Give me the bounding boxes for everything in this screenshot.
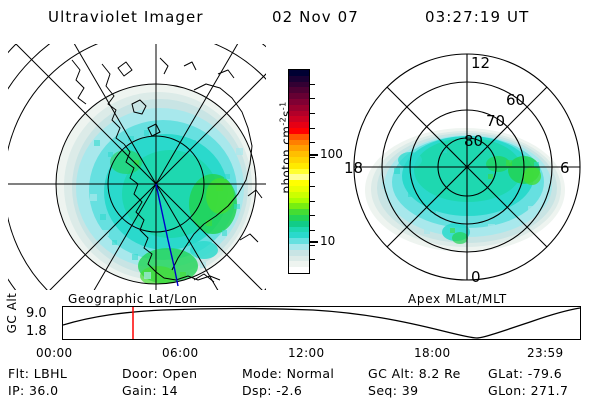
status-seq: Seq: 39 [368, 383, 418, 398]
mlt-label-12: 12 [471, 54, 490, 72]
colorbar-major-tick [310, 241, 318, 243]
time-axis-tick: 00:00 [36, 346, 73, 360]
time-axis-tick: 06:00 [162, 346, 199, 360]
time-axis-tick: 18:00 [414, 346, 451, 360]
orbit-trace-box [62, 306, 581, 340]
colorbar-gradient [288, 69, 310, 274]
status-gcalt: GC Alt: 8.2 Re [368, 366, 461, 381]
uvi-display: Ultraviolet Imager 02 Nov 07 03:27:19 UT [0, 0, 600, 400]
colorbar-ticks [310, 69, 318, 274]
time-axis-tick: 23:59 [527, 346, 564, 360]
colorbar-minor-tick [310, 98, 315, 99]
status-mode: Mode: Normal [242, 366, 334, 381]
mlat-label-70: 70 [486, 112, 505, 130]
colorbar-minor-tick [310, 142, 315, 143]
colorbar-minor-tick [310, 230, 315, 231]
colorbar-minor-tick [310, 215, 315, 216]
colorbar-minor-tick [310, 201, 315, 202]
colorbar-minor-tick [310, 113, 315, 114]
colorbar-minor-tick [310, 259, 315, 260]
colorbar[interactable]: photon cm-2s-1 10010 [268, 62, 340, 282]
mlt-label-0: 0 [471, 268, 481, 286]
page-title: Ultraviolet Imager [48, 8, 204, 26]
altitude-curve [63, 308, 580, 338]
status-door: Door: Open [122, 366, 197, 381]
status-ip: IP: 36.0 [8, 383, 58, 398]
status-gain: Gain: 14 [122, 383, 178, 398]
header-bar: Ultraviolet Imager 02 Nov 07 03:27:19 UT [0, 6, 600, 32]
magnetic-plot-caption: Apex MLat/MLT [408, 292, 507, 306]
time-axis: 00:0006:0012:0018:0023:59 [0, 346, 600, 362]
magnetic-polar-plot[interactable]: 12 6 0 18 60 70 80 [338, 42, 596, 292]
status-glon: GLon: 271.7 [488, 383, 568, 398]
status-block: Flt: LBHL Door: Open Mode: Normal GC Alt… [0, 366, 600, 400]
orbit-altitude-panel[interactable]: Geographic Lat/Lon Apex MLat/MLT GC Alt … [0, 292, 600, 344]
observation-time: 03:27:19 UT [425, 8, 529, 26]
colorbar-minor-tick [310, 157, 315, 158]
colorbar-band [289, 267, 309, 273]
status-dsp: Dsp: -2.6 [242, 383, 302, 398]
time-axis-tick: 12:00 [288, 346, 325, 360]
observation-date: 02 Nov 07 [272, 8, 359, 26]
colorbar-minor-tick [310, 186, 315, 187]
mlat-label-80: 80 [464, 132, 483, 150]
colorbar-minor-tick [310, 172, 315, 173]
mlt-spokes [354, 54, 580, 280]
mlat-label-60: 60 [506, 91, 525, 109]
status-glat: GLat: -79.6 [488, 366, 562, 381]
mlt-label-6: 6 [560, 159, 570, 177]
gcalt-tick-high: 9.0 [26, 306, 47, 321]
gcalt-tick-low: 1.8 [26, 324, 47, 339]
geographic-plot-caption: Geographic Lat/Lon [68, 292, 198, 306]
colorbar-minor-tick [310, 84, 315, 85]
colorbar-minor-tick [310, 128, 315, 129]
gcalt-axis-label: GC Alt [5, 285, 19, 341]
colorbar-major-tick [310, 154, 318, 156]
mlt-label-18: 18 [344, 159, 363, 177]
colorbar-tick-label: 10 [320, 235, 335, 247]
geographic-polar-plot[interactable] [8, 44, 266, 290]
colorbar-minor-tick [310, 245, 315, 246]
status-filter: Flt: LBHL [8, 366, 67, 381]
